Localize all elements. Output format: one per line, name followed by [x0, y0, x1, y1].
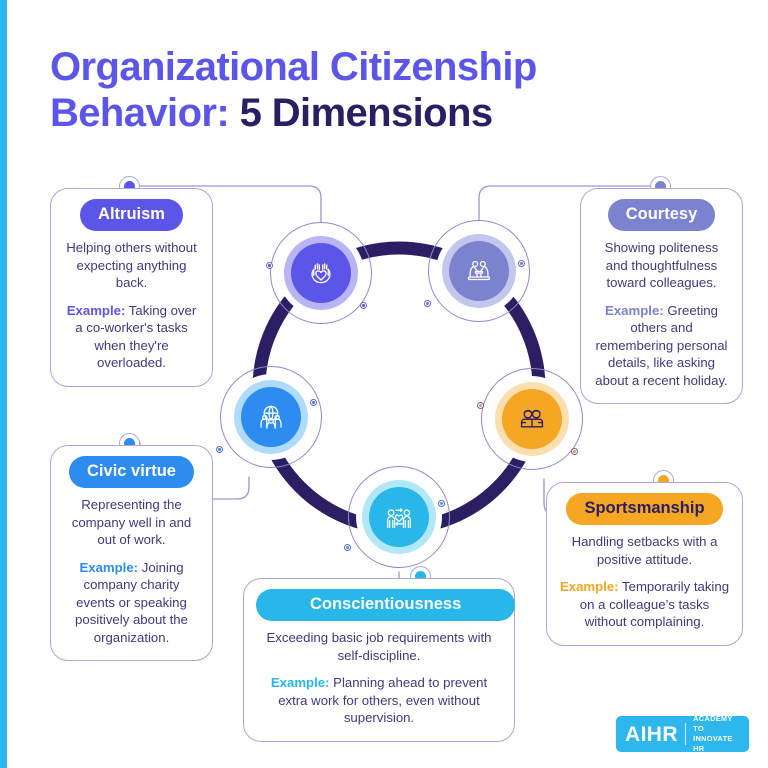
card-description-courtesy: Showing politeness and thoughtfulness to… [593, 239, 730, 292]
card-title-altruism: Altruism [80, 199, 183, 231]
orbit-marker-dot [518, 260, 525, 267]
card-description-altruism: Helping others without expecting anythin… [63, 239, 200, 292]
left-edge-stripe [0, 0, 7, 768]
title-line-2: Behavior: 5 Dimensions [50, 90, 710, 136]
globe-people-icon [254, 400, 288, 434]
orbit-marker-dot [266, 262, 273, 269]
example-label: Example: [271, 675, 330, 690]
orbit-marker-dot [571, 448, 578, 455]
people-heart-exchange-icon [382, 500, 416, 534]
card-example-civic-virtue: Example: Joining company charity events … [63, 559, 200, 647]
orbit-marker-dot [477, 402, 484, 409]
node-sportsmanship[interactable] [489, 376, 575, 462]
card-title-conscientiousness: Conscientiousness [256, 589, 515, 621]
logo-tagline-line-1: ACADEMY TO [693, 714, 740, 734]
title-rest: 5 Dimensions [229, 91, 492, 135]
logo-wordmark: AIHR [625, 724, 678, 745]
node-core [449, 241, 509, 301]
card-altruism[interactable]: Altruism Helping others without expectin… [50, 188, 213, 387]
card-description-civic-virtue: Representing the company well in and out… [63, 496, 200, 549]
orbit-marker-dot [360, 302, 367, 309]
card-example-altruism: Example: Taking over a co-worker's tasks… [63, 302, 200, 372]
card-example-conscientiousness: Example: Planning ahead to prevent extra… [256, 674, 502, 727]
node-core [291, 243, 351, 303]
page-title: Organizational Citizenship Behavior: 5 D… [50, 44, 710, 137]
node-altruism[interactable] [278, 230, 364, 316]
logo-tagline-line-2: INNOVATE HR [693, 734, 740, 754]
orbit-marker-dot [344, 544, 351, 551]
example-label: Example: [67, 303, 126, 318]
aihr-logo[interactable]: AIHR ACADEMY TO INNOVATE HR [616, 716, 749, 752]
example-label: Example: [79, 560, 138, 575]
card-description-sportsmanship: Handling setbacks with a positive attitu… [559, 533, 730, 568]
title-accent: Behavior: [50, 91, 229, 135]
example-label: Example: [560, 579, 619, 594]
card-example-courtesy: Example: Greeting others and remembering… [593, 302, 730, 390]
two-colleagues-icon [515, 402, 549, 436]
orbit-marker-dot [424, 300, 431, 307]
logo-tagline: ACADEMY TO INNOVATE HR [693, 714, 740, 753]
node-core [502, 389, 562, 449]
card-sportsmanship[interactable]: Sportsmanship Handling setbacks with a p… [546, 482, 743, 646]
card-description-conscientiousness: Exceeding basic job requirements with se… [256, 629, 502, 664]
infographic-canvas: Organizational Citizenship Behavior: 5 D… [0, 0, 768, 768]
card-title-sportsmanship: Sportsmanship [566, 493, 722, 525]
card-civic-virtue[interactable]: Civic virtue Representing the company we… [50, 445, 213, 661]
node-core [369, 487, 429, 547]
logo-divider [685, 723, 686, 745]
card-conscientiousness[interactable]: Conscientiousness Exceeding basic job re… [243, 578, 515, 742]
node-civic[interactable] [228, 374, 314, 460]
card-title-courtesy: Courtesy [608, 199, 716, 231]
hands-holding-heart-icon [304, 256, 338, 290]
card-title-civic-virtue: Civic virtue [69, 456, 194, 488]
orbit-marker-dot [438, 500, 445, 507]
node-core [241, 387, 301, 447]
card-courtesy[interactable]: Courtesy Showing politeness and thoughtf… [580, 188, 743, 404]
example-label: Example: [605, 303, 664, 318]
card-example-sportsmanship: Example: Temporarily taking on a colleag… [559, 578, 730, 631]
title-line-1: Organizational Citizenship [50, 44, 710, 90]
orbit-marker-dot [216, 446, 223, 453]
node-courtesy[interactable] [436, 228, 522, 314]
people-greeting-table-icon [462, 254, 496, 288]
node-conscientiousness[interactable] [356, 474, 442, 560]
orbit-marker-dot [310, 399, 317, 406]
